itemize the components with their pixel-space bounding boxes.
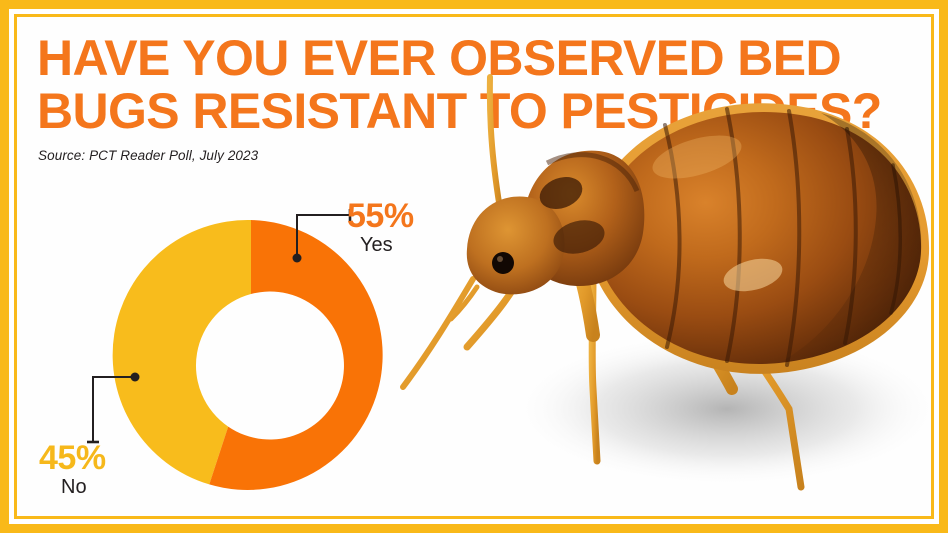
infographic-root: HAVE YOU EVER OBSERVED BED BUGS RESISTAN… (0, 0, 948, 533)
bug-head (467, 197, 565, 295)
source-caption: Source: PCT Reader Poll, July 2023 (38, 148, 258, 163)
callout-no-label: No (39, 475, 106, 499)
leader-dot-no (131, 373, 140, 382)
infographic-canvas: HAVE YOU EVER OBSERVED BED BUGS RESISTAN… (17, 17, 931, 516)
bug-antenna-lower (403, 279, 473, 387)
bed-bug-photo (397, 17, 931, 516)
callout-no: 45% No (39, 441, 106, 499)
bed-bug-illustration (397, 17, 931, 516)
leader-dot-yes (293, 254, 302, 263)
bug-antenna-upper (490, 77, 501, 215)
bug-eye (492, 252, 514, 274)
callout-no-percent: 45% (39, 441, 106, 475)
bug-eye-glint (497, 256, 503, 262)
